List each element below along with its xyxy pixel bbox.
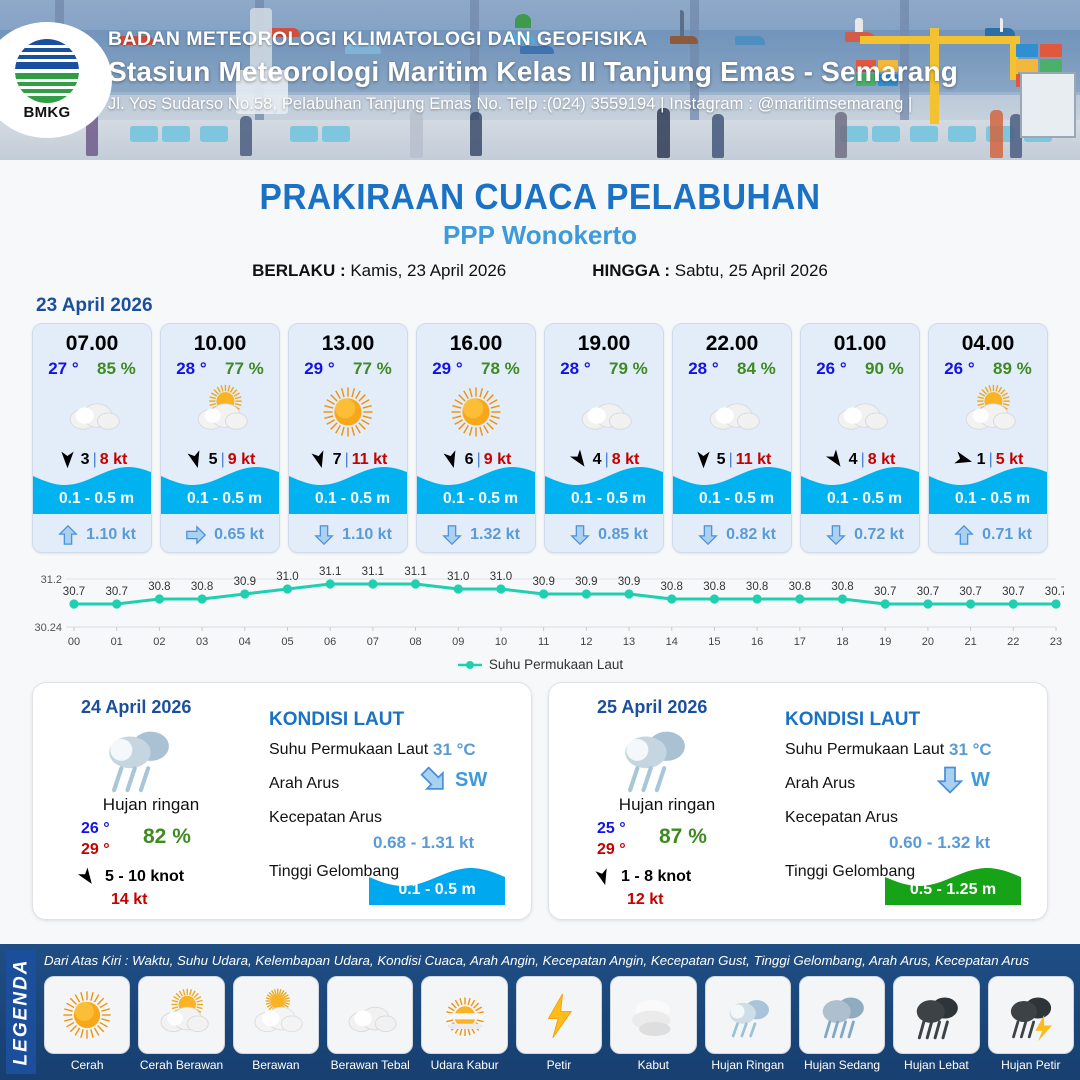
card-wave-height: 0.1 - 0.5 m (801, 490, 920, 508)
card-temperature: 28 ° (688, 359, 718, 379)
page-subtitle: PPP Wonokerto (0, 220, 1080, 251)
cloudy-icon (63, 383, 121, 441)
panel-wind-speed: 5 - 10 knot (105, 868, 184, 886)
svg-text:30.7: 30.7 (106, 586, 128, 598)
wind-direction-icon (591, 865, 615, 889)
forecast-card[interactable]: 13.00 29 ° 77 % 7 | 11 kt 0.1 - 0.5 m 1.… (288, 323, 408, 553)
legend-note: Dari Atas Kiri : Waktu, Suhu Udara, Kele… (44, 953, 1029, 968)
legend-item-label: Petir (547, 1058, 572, 1072)
panel-condition: Hujan ringan (61, 795, 241, 815)
card-humidity: 90 % (865, 359, 904, 379)
current-direction-icon (413, 759, 455, 801)
light-rain-icon (720, 987, 776, 1043)
card-wave-height: 0.1 - 0.5 m (673, 490, 792, 508)
svg-text:15: 15 (708, 636, 720, 648)
card-humidity: 79 % (609, 359, 648, 379)
card-current: 0.82 kt (673, 524, 792, 546)
panel-temp-max: 29 ° (597, 841, 626, 859)
svg-text:06: 06 (324, 636, 336, 648)
card-weather-icon (929, 381, 1047, 443)
svg-text:30.9: 30.9 (532, 576, 554, 588)
card-temperature: 27 ° (48, 359, 78, 379)
bmkg-logo-sky (15, 39, 79, 69)
legend-item[interactable]: Cerah Berawan (138, 976, 224, 1072)
cloudy-icon (575, 383, 633, 441)
panel-temp-min: 25 ° (597, 820, 626, 838)
panel-row-value-wave: 0.5 - 1.25 m (885, 881, 1021, 899)
svg-text:30.8: 30.8 (746, 581, 768, 593)
panel-gust: 12 kt (627, 891, 663, 909)
legend-side-title: LEGENDA (6, 950, 36, 1074)
station-name: Stasiun Meteorologi Maritim Kelas II Tan… (108, 56, 1068, 88)
card-temperature: 26 ° (816, 359, 846, 379)
panel-gust: 14 kt (111, 891, 147, 909)
card-values: 28 ° 79 % (545, 359, 663, 379)
hingga-group: HINGGA : Sabtu, 25 April 2026 (592, 261, 828, 281)
card-current: 0.65 kt (161, 524, 280, 546)
seat-icon (872, 126, 900, 142)
svg-text:30.8: 30.8 (831, 581, 853, 593)
cloudy-icon (831, 383, 889, 441)
card-current-speed: 1.10 kt (342, 526, 392, 544)
legend-item-icon (893, 976, 979, 1054)
current-direction-icon (57, 524, 79, 546)
bmkg-logo-land (15, 73, 79, 103)
legend-item-icon (799, 976, 885, 1054)
panel-row-value-current-speed: 0.60 - 1.32 kt (889, 833, 990, 853)
chart-legend: Suhu Permukaan Laut (0, 657, 1080, 672)
forecast-card[interactable]: 10.00 28 ° 77 % 5 | 9 kt 0.1 - 0.5 m 0.6… (160, 323, 280, 553)
svg-text:30.8: 30.8 (191, 581, 213, 593)
card-current-speed: 1.32 kt (470, 526, 520, 544)
hourly-forecast-row: 07.00 27 ° 85 % 3 | 8 kt 0.1 - 0.5 m 1.1… (0, 323, 1080, 553)
seat-icon (162, 126, 190, 142)
svg-text:30.9: 30.9 (618, 576, 640, 588)
card-humidity: 84 % (737, 359, 776, 379)
sst-chart: 31.230.240001020304050607080910111213141… (16, 565, 1064, 653)
card-current: 1.10 kt (33, 524, 152, 546)
svg-text:14: 14 (666, 636, 678, 648)
card-values: 27 ° 85 % (33, 359, 151, 379)
validity-row: BERLAKU : Kamis, 23 April 2026 HINGGA : … (0, 261, 1080, 281)
legend-item-icon (44, 976, 130, 1054)
legend-item-icon (138, 976, 224, 1054)
panel-row-label-current-dir: Arah Arus (269, 775, 339, 793)
current-direction-icon (953, 524, 975, 546)
seat-icon (130, 126, 158, 142)
card-current-speed: 1.10 kt (86, 526, 136, 544)
svg-text:31.0: 31.0 (276, 571, 298, 583)
svg-text:01: 01 (111, 636, 123, 648)
person-figure (712, 114, 724, 158)
card-wave-height: 0.1 - 0.5 m (929, 490, 1048, 508)
card-humidity: 89 % (993, 359, 1032, 379)
legend-item[interactable]: Hujan Petir (988, 976, 1074, 1072)
sst-chart-svg: 31.230.240001020304050607080910111213141… (16, 565, 1064, 653)
card-values: 26 ° 89 % (929, 359, 1047, 379)
panel-temp-max: 29 ° (81, 841, 110, 859)
card-values: 29 ° 77 % (289, 359, 407, 379)
card-humidity: 77 % (225, 359, 264, 379)
legend-item-label: Kabut (638, 1058, 669, 1072)
panel-current-direction: SW (419, 765, 487, 795)
svg-text:11: 11 (538, 636, 549, 648)
panel-row-label-current-speed: Kecepatan Arus (269, 809, 382, 827)
forecast-card[interactable]: 01.00 26 ° 90 % 4 | 8 kt 0.1 - 0.5 m 0.7… (800, 323, 920, 553)
svg-text:04: 04 (239, 636, 251, 648)
svg-text:10: 10 (495, 636, 507, 648)
panel-humidity: 82 % (143, 825, 191, 849)
svg-text:21: 21 (964, 636, 976, 648)
partly-cloudy-icon (191, 383, 249, 441)
card-temperature: 29 ° (432, 359, 462, 379)
panel-row-value-sst: 31 °C (433, 740, 476, 760)
legend-item-icon (327, 976, 413, 1054)
svg-text:30.8: 30.8 (703, 581, 725, 593)
moderate-rain-icon (814, 987, 870, 1043)
legend-item-label: Berawan (252, 1058, 299, 1072)
svg-text:30.7: 30.7 (1002, 586, 1024, 598)
panel-condition: Hujan ringan (577, 795, 757, 815)
card-values: 28 ° 77 % (161, 359, 279, 379)
card-current: 0.71 kt (929, 524, 1048, 546)
agency-name: BADAN METEOROLOGI KLIMATOLOGI DAN GEOFIS… (108, 28, 1068, 51)
card-current: 0.85 kt (545, 524, 664, 546)
panel-date: 25 April 2026 (597, 697, 707, 718)
svg-text:30.7: 30.7 (917, 586, 939, 598)
card-weather-icon (673, 381, 791, 443)
card-current-speed: 0.85 kt (598, 526, 648, 544)
fog-icon (625, 987, 681, 1043)
panel-row-value-current-dir: W (971, 769, 990, 792)
heavy-rain-icon (908, 987, 964, 1043)
partly-cloudy-icon (959, 383, 1017, 441)
card-weather-icon (545, 381, 663, 443)
panel-wind: 1 - 8 knot (593, 867, 691, 887)
daily-panel[interactable]: 24 April 2026 Hujan ringan 26 ° 29 ° 82 … (32, 682, 532, 920)
seat-icon (910, 126, 938, 142)
panel-wind: 5 - 10 knot (77, 867, 184, 887)
svg-text:30.8: 30.8 (789, 581, 811, 593)
panel-sea-title: KONDISI LAUT (269, 709, 404, 731)
legend-item-label: Hujan Petir (1001, 1058, 1060, 1072)
daily-panel[interactable]: 25 April 2026 Hujan ringan 25 ° 29 ° 87 … (548, 682, 1048, 920)
bmkg-logo-disc (15, 39, 79, 103)
seat-icon (948, 126, 976, 142)
sunny-icon (59, 987, 115, 1043)
panel-temp-min: 26 ° (81, 820, 110, 838)
card-wave-height: 0.1 - 0.5 m (161, 490, 280, 508)
page-header: BMKG BADAN METEOROLOGI KLIMATOLOGI DAN G… (0, 0, 1080, 160)
island-icon (515, 14, 531, 28)
legend-item-label: Hujan Ringan (711, 1058, 784, 1072)
svg-text:07: 07 (367, 636, 379, 648)
card-weather-icon (161, 381, 279, 443)
svg-text:02: 02 (153, 636, 165, 648)
svg-text:31.1: 31.1 (404, 566, 426, 578)
forecast-card[interactable]: 22.00 28 ° 84 % 5 | 11 kt 0.1 - 0.5 m 0.… (672, 323, 792, 553)
panel-row-label-current-speed: Kecepatan Arus (785, 809, 898, 827)
svg-text:31.0: 31.0 (490, 571, 512, 583)
current-direction-icon (935, 765, 965, 795)
legend-item-label: Hujan Sedang (804, 1058, 880, 1072)
card-current-speed: 0.72 kt (854, 526, 904, 544)
legend-items: Cerah Cerah Berawan Berawan Berawan Teba… (44, 976, 1074, 1072)
svg-text:13: 13 (623, 636, 635, 648)
panel-row-value-sst: 31 °C (949, 740, 992, 760)
svg-text:12: 12 (580, 636, 592, 648)
panel-wave-badge: 0.1 - 0.5 m (369, 859, 505, 905)
card-time: 16.00 (417, 332, 535, 356)
card-time: 13.00 (289, 332, 407, 356)
card-humidity: 85 % (97, 359, 136, 379)
svg-text:30.9: 30.9 (234, 576, 256, 588)
svg-text:31.1: 31.1 (362, 566, 384, 578)
card-wave-height: 0.1 - 0.5 m (33, 490, 152, 508)
bmkg-logo-text: BMKG (23, 104, 70, 121)
panel-humidity: 87 % (659, 825, 707, 849)
legend-side-text: LEGENDA (10, 959, 32, 1066)
card-time: 04.00 (929, 332, 1047, 356)
svg-text:31.0: 31.0 (447, 571, 469, 583)
svg-text:20: 20 (922, 636, 934, 648)
panel-row-value-current-speed: 0.68 - 1.31 kt (373, 833, 474, 853)
card-wave-height: 0.1 - 0.5 m (545, 490, 664, 508)
thunder-icon (531, 987, 587, 1043)
svg-text:23: 23 (1050, 636, 1062, 648)
legend-item[interactable]: Hujan Ringan (705, 976, 791, 1072)
person-figure (240, 116, 252, 156)
person-figure (470, 112, 482, 156)
card-temperature: 26 ° (944, 359, 974, 379)
rain-icon (97, 717, 175, 795)
card-current: 1.32 kt (417, 524, 536, 546)
hingga-label: HINGGA : (592, 261, 670, 280)
panel-wave-badge: 0.5 - 1.25 m (885, 859, 1021, 905)
panel-weather-icon (613, 717, 691, 800)
legend-item[interactable]: Cerah (44, 976, 130, 1072)
card-time: 22.00 (673, 332, 791, 356)
forecast-card[interactable]: 04.00 26 ° 89 % 1 | 5 kt 0.1 - 0.5 m 0.7… (928, 323, 1048, 553)
panel-weather-icon (97, 717, 175, 800)
panel-wind-speed: 1 - 8 knot (621, 868, 691, 886)
card-time: 01.00 (801, 332, 919, 356)
legend-item[interactable]: Hujan Lebat (893, 976, 979, 1072)
card-current-speed: 0.71 kt (982, 526, 1032, 544)
title-block: PRAKIRAAN CUACA PELABUHAN PPP Wonokerto … (0, 176, 1080, 281)
legend-item[interactable]: Berawan (233, 976, 319, 1072)
card-temperature: 28 ° (176, 359, 206, 379)
card-time: 19.00 (545, 332, 663, 356)
panel-row-value-wave: 0.1 - 0.5 m (369, 881, 505, 899)
card-values: 26 ° 90 % (801, 359, 919, 379)
card-wave-height: 0.1 - 0.5 m (417, 490, 536, 508)
cloudy-icon (703, 383, 761, 441)
card-current-speed: 0.82 kt (726, 526, 776, 544)
forecast-card[interactable]: 07.00 27 ° 85 % 3 | 8 kt 0.1 - 0.5 m 1.1… (32, 323, 152, 553)
current-direction-icon (569, 524, 591, 546)
svg-text:30.7: 30.7 (1045, 586, 1064, 598)
legend-item-icon (610, 976, 696, 1054)
legend-marker-icon (457, 659, 483, 671)
svg-text:08: 08 (409, 636, 421, 648)
svg-text:30.9: 30.9 (575, 576, 597, 588)
card-humidity: 78 % (481, 359, 520, 379)
daily-panels-row: 24 April 2026 Hujan ringan 26 ° 29 ° 82 … (0, 672, 1080, 920)
overcast-icon (342, 987, 398, 1043)
person-figure (835, 112, 847, 158)
panel-sea-title: KONDISI LAUT (785, 709, 920, 731)
panel-current-direction: W (935, 765, 990, 795)
svg-text:17: 17 (794, 636, 806, 648)
legend-item-label: Hujan Lebat (904, 1058, 969, 1072)
wind-direction-icon (73, 863, 101, 891)
current-direction-icon (697, 524, 719, 546)
contact-info: Jl. Yos Sudarso No.58, Pelabuhan Tanjung… (108, 95, 1068, 114)
legend-item[interactable]: Kabut (610, 976, 696, 1072)
svg-text:30.24: 30.24 (34, 622, 62, 634)
seat-icon (322, 126, 350, 142)
berlaku-label: BERLAKU : (252, 261, 346, 280)
person-figure (990, 110, 1003, 158)
hingga-value: Sabtu, 25 April 2026 (675, 261, 828, 280)
card-weather-icon (33, 381, 151, 443)
card-wave-height: 0.1 - 0.5 m (289, 490, 408, 508)
mostly-cloudy-icon (248, 987, 304, 1043)
berlaku-group: BERLAKU : Kamis, 23 April 2026 (252, 261, 506, 281)
legend-item[interactable]: Hujan Sedang (799, 976, 885, 1072)
legend-item-icon (233, 976, 319, 1054)
seat-icon (200, 126, 228, 142)
current-direction-icon (441, 524, 463, 546)
svg-text:30.7: 30.7 (959, 586, 981, 598)
partly-cloudy-icon (154, 987, 210, 1043)
card-temperature: 29 ° (304, 359, 334, 379)
card-values: 29 ° 78 % (417, 359, 535, 379)
svg-text:30.7: 30.7 (63, 586, 85, 598)
card-current: 0.72 kt (801, 524, 920, 546)
legend-item-label: Cerah (71, 1058, 104, 1072)
berlaku-value: Kamis, 23 April 2026 (350, 261, 506, 280)
legend-item-label: Berawan Tebal (331, 1058, 410, 1072)
legend-item-icon (516, 976, 602, 1054)
card-current-speed: 0.65 kt (214, 526, 264, 544)
svg-text:00: 00 (68, 636, 80, 648)
header-text-block: BADAN METEOROLOGI KLIMATOLOGI DAN GEOFIS… (108, 28, 1068, 114)
legend-item-icon (988, 976, 1074, 1054)
svg-text:30.7: 30.7 (874, 586, 896, 598)
card-values: 28 ° 84 % (673, 359, 791, 379)
current-direction-icon (825, 524, 847, 546)
seat-icon (290, 126, 318, 142)
svg-text:03: 03 (196, 636, 208, 648)
svg-text:18: 18 (836, 636, 848, 648)
haze-icon (437, 987, 493, 1043)
svg-text:22: 22 (1007, 636, 1019, 648)
card-time: 07.00 (33, 332, 151, 356)
card-temperature: 28 ° (560, 359, 590, 379)
legend-item[interactable]: Berawan Tebal (327, 976, 413, 1072)
legend-item-label: Cerah Berawan (140, 1058, 223, 1072)
forecast-day-label: 23 April 2026 (36, 295, 1080, 317)
forecast-card[interactable]: 19.00 28 ° 79 % 4 | 8 kt 0.1 - 0.5 m 0.8… (544, 323, 664, 553)
card-weather-icon (801, 381, 919, 443)
rain-icon (613, 717, 691, 795)
page-title: PRAKIRAAN CUACA PELABUHAN (38, 176, 1042, 218)
svg-text:31.2: 31.2 (41, 574, 62, 586)
person-figure (657, 108, 670, 158)
card-weather-icon (417, 381, 535, 443)
card-humidity: 77 % (353, 359, 392, 379)
svg-text:31.1: 31.1 (319, 566, 341, 578)
legend-item-icon (705, 976, 791, 1054)
svg-text:30.8: 30.8 (148, 581, 170, 593)
legend-item[interactable]: Udara Kabur (421, 976, 507, 1072)
current-direction-icon (313, 524, 335, 546)
panel-row-label-sst: Suhu Permukaan Laut (785, 741, 944, 759)
sunny-icon (447, 383, 505, 441)
card-time: 10.00 (161, 332, 279, 356)
svg-text:09: 09 (452, 636, 464, 648)
thunderstorm-icon (1003, 987, 1059, 1043)
legend-item[interactable]: Petir (516, 976, 602, 1072)
panel-row-value-current-dir: SW (455, 769, 487, 792)
legend-item-label: Udara Kabur (431, 1058, 499, 1072)
panel-row-label-current-dir: Arah Arus (785, 775, 855, 793)
current-direction-icon (185, 524, 207, 546)
forecast-card[interactable]: 16.00 29 ° 78 % 6 | 9 kt 0.1 - 0.5 m 1.3… (416, 323, 536, 553)
sunny-icon (319, 383, 377, 441)
legend-bar: LEGENDA Dari Atas Kiri : Waktu, Suhu Uda… (0, 944, 1080, 1080)
person-figure (410, 110, 423, 158)
svg-text:30.8: 30.8 (661, 581, 683, 593)
svg-text:05: 05 (281, 636, 293, 648)
legend-item-icon (421, 976, 507, 1054)
panel-date: 24 April 2026 (81, 697, 191, 718)
svg-text:16: 16 (751, 636, 763, 648)
panel-row-label-sst: Suhu Permukaan Laut (269, 741, 428, 759)
card-current: 1.10 kt (289, 524, 408, 546)
svg-text:19: 19 (879, 636, 891, 648)
chart-legend-label: Suhu Permukaan Laut (489, 657, 623, 672)
card-weather-icon (289, 381, 407, 443)
